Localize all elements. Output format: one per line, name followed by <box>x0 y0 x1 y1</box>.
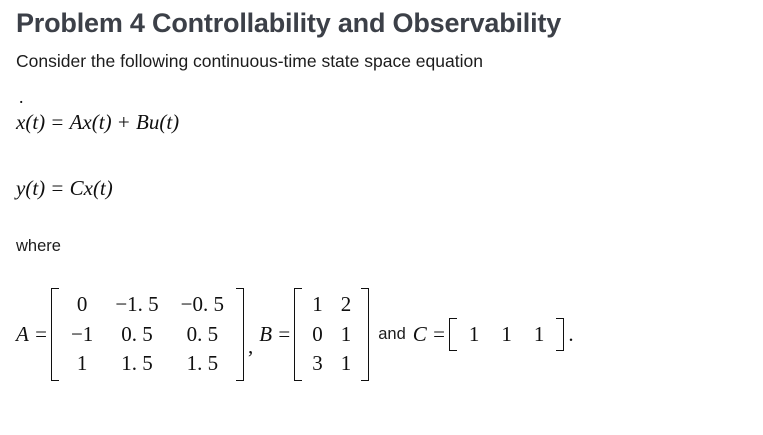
matrix-b-table: 1 2 0 1 3 1 <box>303 290 360 379</box>
equals-sign: = <box>51 110 63 134</box>
matrix-a-label: A <box>16 322 29 346</box>
table-row: 3 1 <box>303 349 360 379</box>
terminal-period: . <box>566 322 573 347</box>
matrix-c-cell: 1 <box>458 320 491 350</box>
table-row: 1 1 1 <box>458 320 556 350</box>
matrix-b-cell: 1 <box>303 290 332 320</box>
table-row: 0 −1. 5 −0. 5 <box>60 290 235 320</box>
input-variable-u: u <box>149 110 160 134</box>
matrix-c-equals: = <box>433 322 445 346</box>
table-row: 1 2 <box>303 290 360 320</box>
conjunction-and: and <box>371 325 413 344</box>
matrix-c-label: C <box>413 322 427 346</box>
matrix-b-cell: 1 <box>332 349 361 379</box>
document-page: Problem 4 Controllability and Observabil… <box>0 0 763 435</box>
matrix-c-definition-label: C= <box>413 322 447 347</box>
matrix-a-table: 0 −1. 5 −0. 5 −1 0. 5 0. 5 1 1. 5 1. 5 <box>60 290 235 379</box>
matrix-b-label: B <box>259 322 272 346</box>
matrix-c-cell: 1 <box>523 320 556 350</box>
state-variable-x2: x <box>82 110 91 134</box>
equals-sign-2: = <box>51 176 63 200</box>
state-arg: (t) <box>25 110 45 134</box>
matrix-b-cell: 1 <box>332 320 361 350</box>
problem-statement-text: Consider the following continuous-time s… <box>16 51 483 72</box>
dot-accent-icon: ˙ <box>18 99 25 119</box>
where-label: where <box>16 237 61 256</box>
matrix-c-cell: 1 <box>490 320 523 350</box>
matrix-b-cell: 0 <box>303 320 332 350</box>
input-arg: (t) <box>159 110 179 134</box>
matrix-a-brackets: 0 −1. 5 −0. 5 −1 0. 5 0. 5 1 1. 5 1. 5 <box>51 288 244 381</box>
matrix-b-cell: 3 <box>303 349 332 379</box>
table-row: 1 1. 5 1. 5 <box>60 349 235 379</box>
output-variable-y: y <box>16 176 25 200</box>
matrix-a-cell: −0. 5 <box>170 290 235 320</box>
matrix-a-symbol: A <box>70 110 83 134</box>
matrix-b-brackets: 1 2 0 1 3 1 <box>294 288 369 381</box>
matrix-a-cell: 0 <box>60 290 104 320</box>
matrix-c-brackets: 1 1 1 <box>449 318 565 352</box>
output-equation: y(t)=Cx(t) <box>16 178 113 199</box>
table-row: −1 0. 5 0. 5 <box>60 320 235 350</box>
plus-sign: + <box>118 110 130 134</box>
matrix-a-definition-label: A= <box>16 322 49 347</box>
matrix-separator-comma: , <box>246 334 259 359</box>
matrix-a-cell: 1. 5 <box>170 349 235 379</box>
matrix-b-cell: 2 <box>332 290 361 320</box>
matrix-a-cell: −1 <box>60 320 104 350</box>
state-arg3: (t) <box>93 176 113 200</box>
matrix-c-table: 1 1 1 <box>458 320 556 350</box>
x-dot-symbol: x˙ <box>16 112 25 133</box>
matrix-a-cell: 1 <box>60 349 104 379</box>
matrix-b-symbol: B <box>136 110 149 134</box>
state-equation: x˙(t)=Ax(t)+Bu(t) <box>16 112 179 133</box>
matrix-a-equals: = <box>35 322 47 346</box>
matrix-a-cell: 0. 5 <box>170 320 235 350</box>
output-arg: (t) <box>25 176 45 200</box>
matrix-c-symbol: C <box>70 176 84 200</box>
matrix-b-equals: = <box>278 322 290 346</box>
matrix-definitions-row: A= 0 −1. 5 −0. 5 −1 0. 5 0. 5 1 1. 5 1. … <box>16 288 574 381</box>
matrix-b-definition-label: B= <box>259 322 292 347</box>
table-row: 0 1 <box>303 320 360 350</box>
matrix-a-cell: 0. 5 <box>104 320 169 350</box>
state-variable-x3: x <box>84 176 93 200</box>
matrix-a-cell: −1. 5 <box>104 290 169 320</box>
page-title: Problem 4 Controllability and Observabil… <box>16 8 561 39</box>
matrix-a-cell: 1. 5 <box>104 349 169 379</box>
state-arg2: (t) <box>92 110 112 134</box>
